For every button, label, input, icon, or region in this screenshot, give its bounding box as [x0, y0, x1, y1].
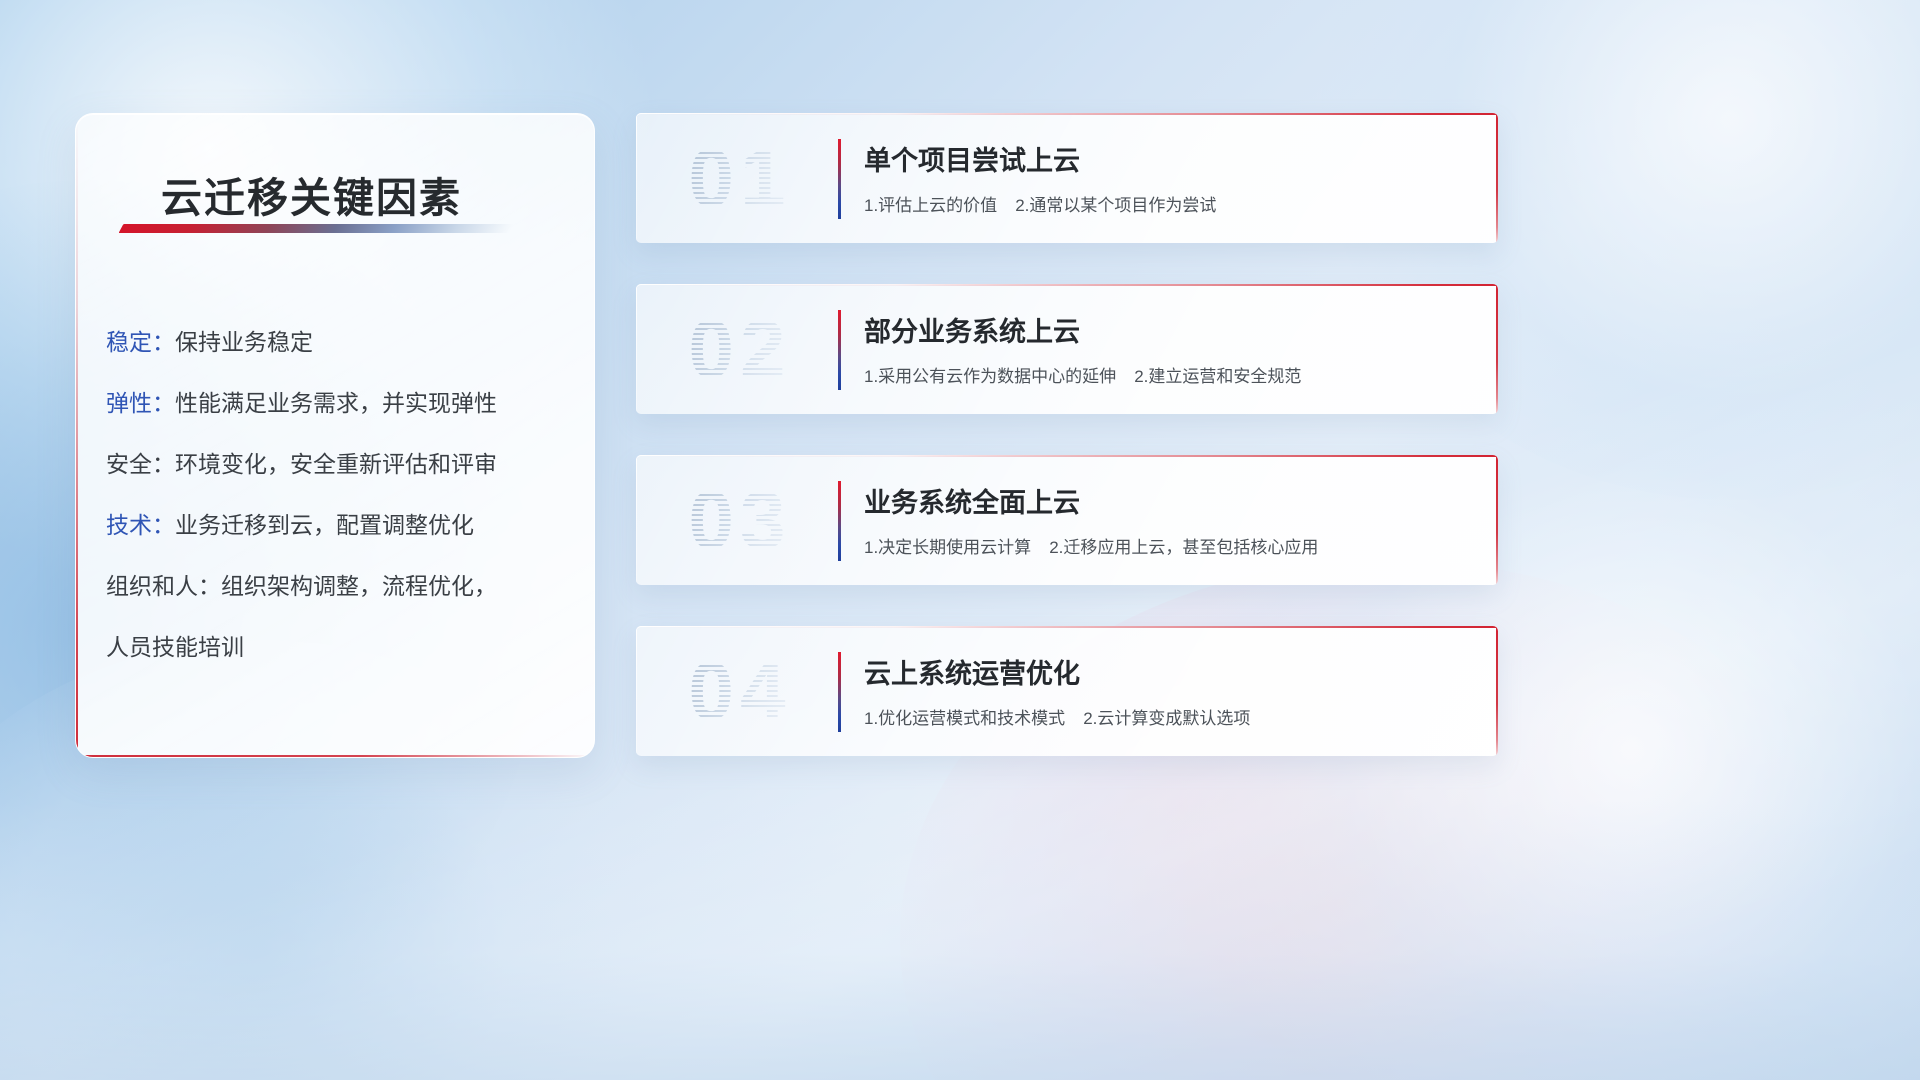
card-top-accent-border: [636, 626, 1498, 628]
card-right-accent-border: [1496, 455, 1498, 585]
stage-item-2: 2.建立运营和安全规范: [1134, 367, 1301, 386]
stage-item-2: 2.迁移应用上云，甚至包括核心应用: [1049, 538, 1318, 557]
stage-card-03[interactable]: 03 业务系统全面上云 1.决定长期使用云计算2.迁移应用上云，甚至包括核心应用: [636, 455, 1498, 585]
factor-text: 保持业务稳定: [175, 329, 313, 355]
stage-title: 云上系统运营优化: [864, 652, 1080, 691]
stage-number-text: 02: [688, 303, 791, 397]
stage-card-04[interactable]: 04 云上系统运营优化 1.优化运营模式和技术模式2.云计算变成默认选项: [636, 626, 1498, 756]
card-left-highlight: [636, 455, 637, 585]
stage-title: 单个项目尝试上云: [864, 139, 1080, 178]
stage-divider-line: [838, 652, 841, 732]
factor-text: 环境变化，安全重新评估和评审: [175, 451, 497, 477]
background-bottom-fade: [0, 800, 1920, 1080]
stage-number-03: 03: [660, 469, 820, 573]
stage-number-01: 01: [660, 127, 820, 231]
stage-number-text: 03: [688, 474, 791, 568]
factor-label: 稳定：: [106, 329, 175, 355]
stage-divider-line: [838, 481, 841, 561]
factor-text: 性能满足业务需求，并实现弹性: [175, 390, 497, 416]
factor-text: 业务迁移到云，配置调整优化: [175, 512, 474, 538]
list-item: 弹性：性能满足业务需求，并实现弹性: [106, 373, 576, 434]
stage-number-04: 04: [660, 640, 820, 744]
factor-list: 稳定：保持业务稳定 弹性：性能满足业务需求，并实现弹性 安全：环境变化，安全重新…: [106, 312, 576, 678]
stage-item-1: 1.评估上云的价值: [864, 196, 997, 215]
panel-bottom-accent-border: [76, 755, 594, 757]
stage-subtitle: 1.决定长期使用云计算2.迁移应用上云，甚至包括核心应用: [864, 533, 1318, 558]
list-item: 技术：业务迁移到云，配置调整优化: [106, 495, 576, 556]
list-item: 人员技能培训: [106, 617, 576, 678]
list-item: 组织和人：组织架构调整，流程优化，: [106, 556, 576, 617]
stage-number-text: 04: [688, 645, 791, 739]
stage-divider-line: [838, 139, 841, 219]
factor-text: 人员技能培训: [106, 634, 244, 660]
stage-item-1: 1.采用公有云作为数据中心的延伸: [864, 367, 1116, 386]
stage-number-02: 02: [660, 298, 820, 402]
card-right-accent-border: [1496, 113, 1498, 243]
card-left-highlight: [636, 284, 637, 414]
stage-item-1: 1.优化运营模式和技术模式: [864, 709, 1065, 728]
stage-subtitle: 1.采用公有云作为数据中心的延伸2.建立运营和安全规范: [864, 362, 1301, 387]
factor-text: 组织架构调整，流程优化，: [221, 573, 497, 599]
card-top-accent-border: [636, 113, 1498, 115]
page-title: 云迁移关键因素: [161, 164, 462, 224]
key-factors-panel: 云迁移关键因素 稳定：保持业务稳定 弹性：性能满足业务需求，并实现弹性 安全：环…: [75, 113, 595, 758]
stage-item-1: 1.决定长期使用云计算: [864, 538, 1031, 557]
stage-subtitle: 1.评估上云的价值2.通常以某个项目作为尝试: [864, 191, 1216, 216]
card-right-accent-border: [1496, 626, 1498, 756]
stage-card-02[interactable]: 02 部分业务系统上云 1.采用公有云作为数据中心的延伸2.建立运营和安全规范: [636, 284, 1498, 414]
stage-divider-line: [838, 310, 841, 390]
factor-label: 安全：: [106, 451, 175, 477]
stage-title: 业务系统全面上云: [864, 481, 1080, 520]
factor-label: 技术：: [106, 512, 175, 538]
factor-label: 弹性：: [106, 390, 175, 416]
card-left-highlight: [636, 113, 637, 243]
stage-subtitle: 1.优化运营模式和技术模式2.云计算变成默认选项: [864, 704, 1250, 729]
title-underline-rule: [119, 224, 514, 233]
panel-left-accent-border: [76, 114, 78, 757]
stage-item-2: 2.通常以某个项目作为尝试: [1015, 196, 1216, 215]
list-item: 稳定：保持业务稳定: [106, 312, 576, 373]
stage-item-2: 2.云计算变成默认选项: [1083, 709, 1250, 728]
card-top-accent-border: [636, 455, 1498, 457]
list-item: 安全：环境变化，安全重新评估和评审: [106, 434, 576, 495]
card-left-highlight: [636, 626, 637, 756]
card-top-accent-border: [636, 284, 1498, 286]
stage-title: 部分业务系统上云: [864, 310, 1080, 349]
stage-card-01[interactable]: 01 单个项目尝试上云 1.评估上云的价值2.通常以某个项目作为尝试: [636, 113, 1498, 243]
factor-label: 组织和人：: [106, 573, 221, 599]
stage-number-text: 01: [688, 132, 791, 226]
card-right-accent-border: [1496, 284, 1498, 414]
